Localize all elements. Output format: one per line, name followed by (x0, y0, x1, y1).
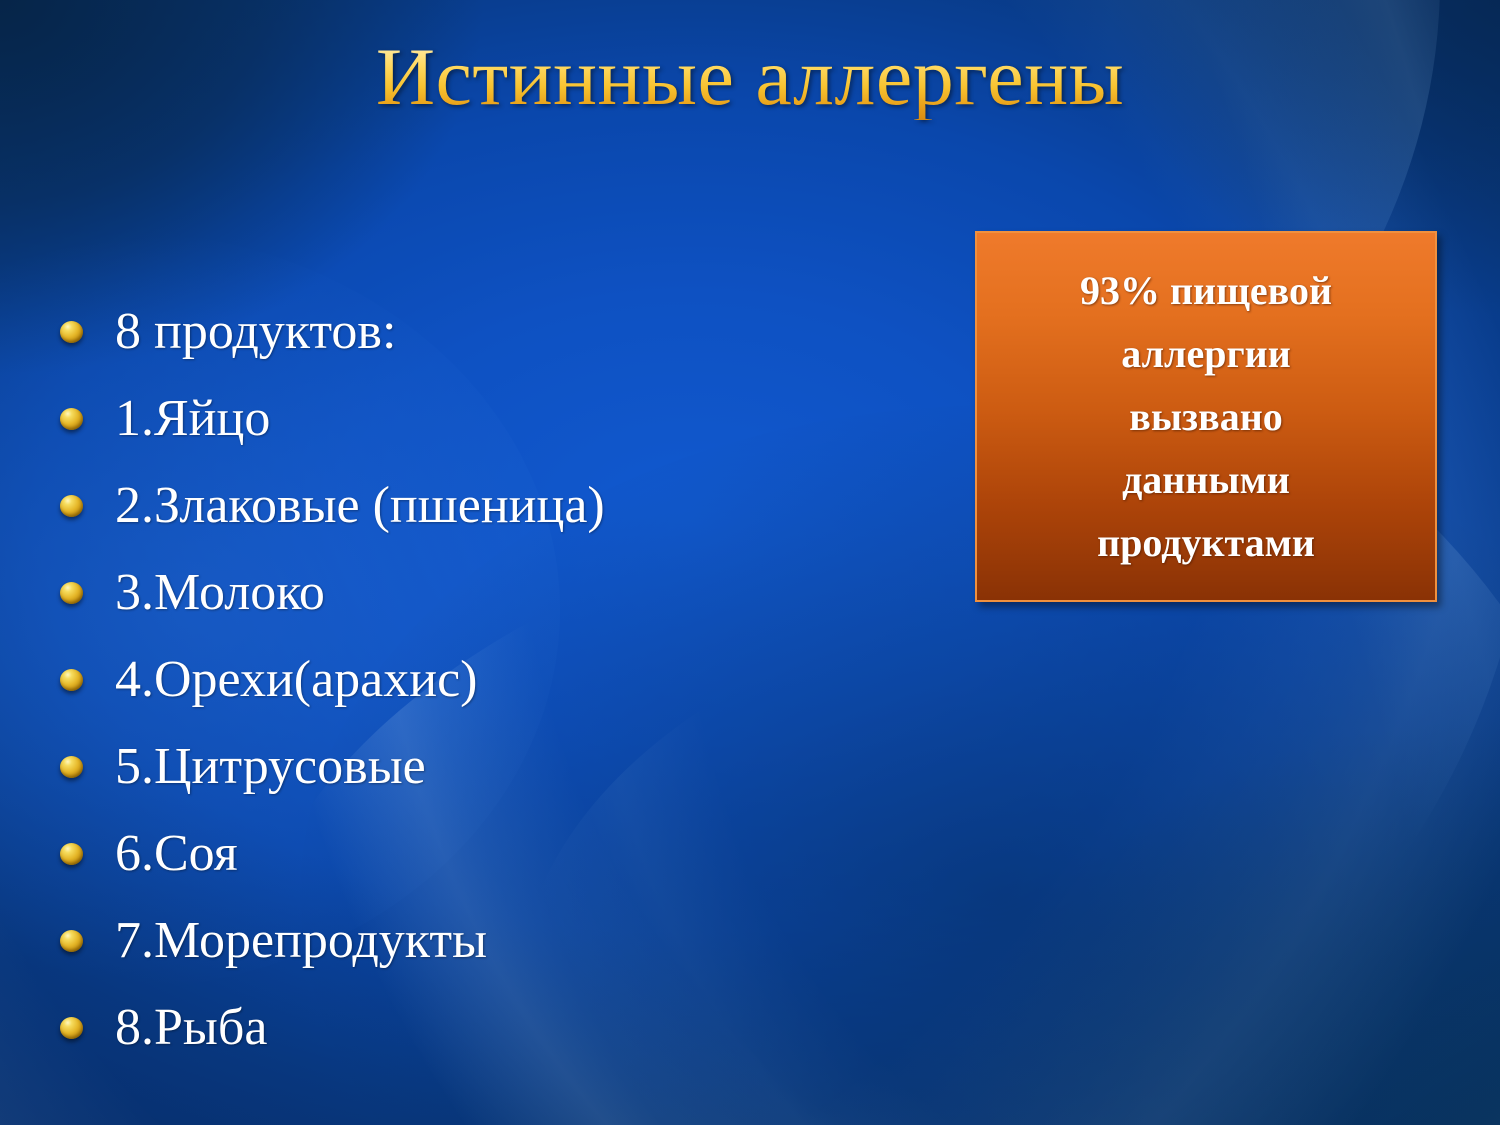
gold-sphere-bullet-icon (60, 1017, 83, 1039)
list-item: 6.Соя (60, 810, 940, 897)
callout-line: данными (1122, 448, 1290, 511)
list-item-label: 2.Злаковые (пшеница) (115, 480, 605, 532)
list-item: 8 продуктов: (60, 288, 940, 375)
list-item-label: 8 продуктов: (115, 306, 396, 358)
list-item: 1.Яйцо (60, 375, 940, 462)
gold-sphere-bullet-icon (60, 495, 83, 517)
statistic-callout-box: 93% пищевой аллергии вызвано данными про… (975, 231, 1437, 602)
list-item: 4.Орехи(арахис) (60, 636, 940, 723)
list-item: 5.Цитрусовые (60, 723, 940, 810)
list-item-label: 4.Орехи(арахис) (115, 654, 477, 706)
list-item-label: 5.Цитрусовые (115, 741, 426, 793)
callout-line: 93% пищевой (1080, 259, 1332, 322)
slide-title: Истинные аллергены (0, 34, 1500, 120)
list-item-label: 8.Рыба (115, 1002, 267, 1054)
gold-sphere-bullet-icon (60, 582, 83, 604)
gold-sphere-bullet-icon (60, 930, 83, 952)
callout-line: продуктами (1097, 511, 1315, 574)
list-item: 8.Рыба (60, 984, 940, 1071)
gold-sphere-bullet-icon (60, 408, 83, 430)
allergen-list: 8 продуктов: 1.Яйцо 2.Злаковые (пшеница)… (60, 288, 940, 1071)
list-item-label: 1.Яйцо (115, 393, 270, 445)
callout-line: аллергии (1121, 322, 1291, 385)
list-item: 2.Злаковые (пшеница) (60, 462, 940, 549)
presentation-slide: Истинные аллергены 8 продуктов: 1.Яйцо 2… (0, 0, 1500, 1125)
gold-sphere-bullet-icon (60, 756, 83, 778)
list-item-label: 3.Молоко (115, 567, 325, 619)
list-item: 3.Молоко (60, 549, 940, 636)
gold-sphere-bullet-icon (60, 321, 83, 343)
list-item: 7.Морепродукты (60, 897, 940, 984)
gold-sphere-bullet-icon (60, 843, 83, 865)
list-item-label: 6.Соя (115, 828, 238, 880)
callout-line: вызвано (1129, 385, 1283, 448)
gold-sphere-bullet-icon (60, 669, 83, 691)
list-item-label: 7.Морепродукты (115, 915, 487, 967)
